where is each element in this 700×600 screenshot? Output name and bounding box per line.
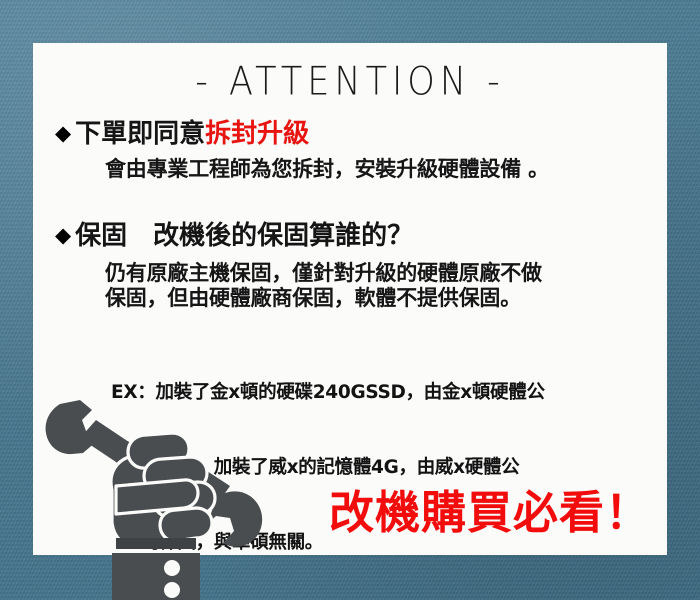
section-warranty: ◆ 保固 改機後的保固算誰的？ 仍有原廠主機保固，僅針對升級的硬體原廠不做 保固… xyxy=(33,215,667,311)
section-warranty-heading-plain: 保固 改機後的保固算誰的？ xyxy=(75,215,413,252)
section-warranty-body: 仍有原廠主機保固，僅針對升級的硬體原廠不做 保固，但由硬體廠商保固，軟體不提供保… xyxy=(33,261,667,311)
notice-card: - ATTENTION - ◆ 下單即同意 拆封升級 會由專業工程師為您拆封，安… xyxy=(33,43,667,555)
section-unseal-body: 會由專業工程師為您拆封，安裝升級硬體設備 。 xyxy=(33,157,667,182)
page-title: - ATTENTION - xyxy=(33,60,667,105)
section-unseal-heading-accent: 拆封升級 xyxy=(205,113,309,150)
section-warranty-heading: ◆ 保固 改機後的保固算誰的？ xyxy=(33,215,667,252)
example-line: 司保固，加裝了威x的記憶體4G，由威x硬體公 xyxy=(111,455,655,480)
example-line: EX：加裝了金x頓的硬碟240GSSD，由金x頓硬體公 xyxy=(111,380,655,405)
cta-text: 改機購買必看！ xyxy=(329,490,651,535)
diamond-bullet-icon: ◆ xyxy=(55,123,71,144)
example-block: EX：加裝了金x頓的硬碟240GSSD，由金x頓硬體公 司保固，加裝了威x的記憶… xyxy=(33,330,667,600)
section-unseal-heading-plain: 下單即同意 xyxy=(75,113,205,150)
attention-poster: - ATTENTION - ◆ 下單即同意 拆封升級 會由專業工程師為您拆封，安… xyxy=(0,0,700,600)
section-unseal-heading: ◆ 下單即同意 拆封升級 xyxy=(33,113,667,150)
section-unseal-upgrade: ◆ 下單即同意 拆封升級 會由專業工程師為您拆封，安裝升級硬體設備 。 xyxy=(33,113,667,182)
diamond-bullet-icon: ◆ xyxy=(55,225,71,246)
